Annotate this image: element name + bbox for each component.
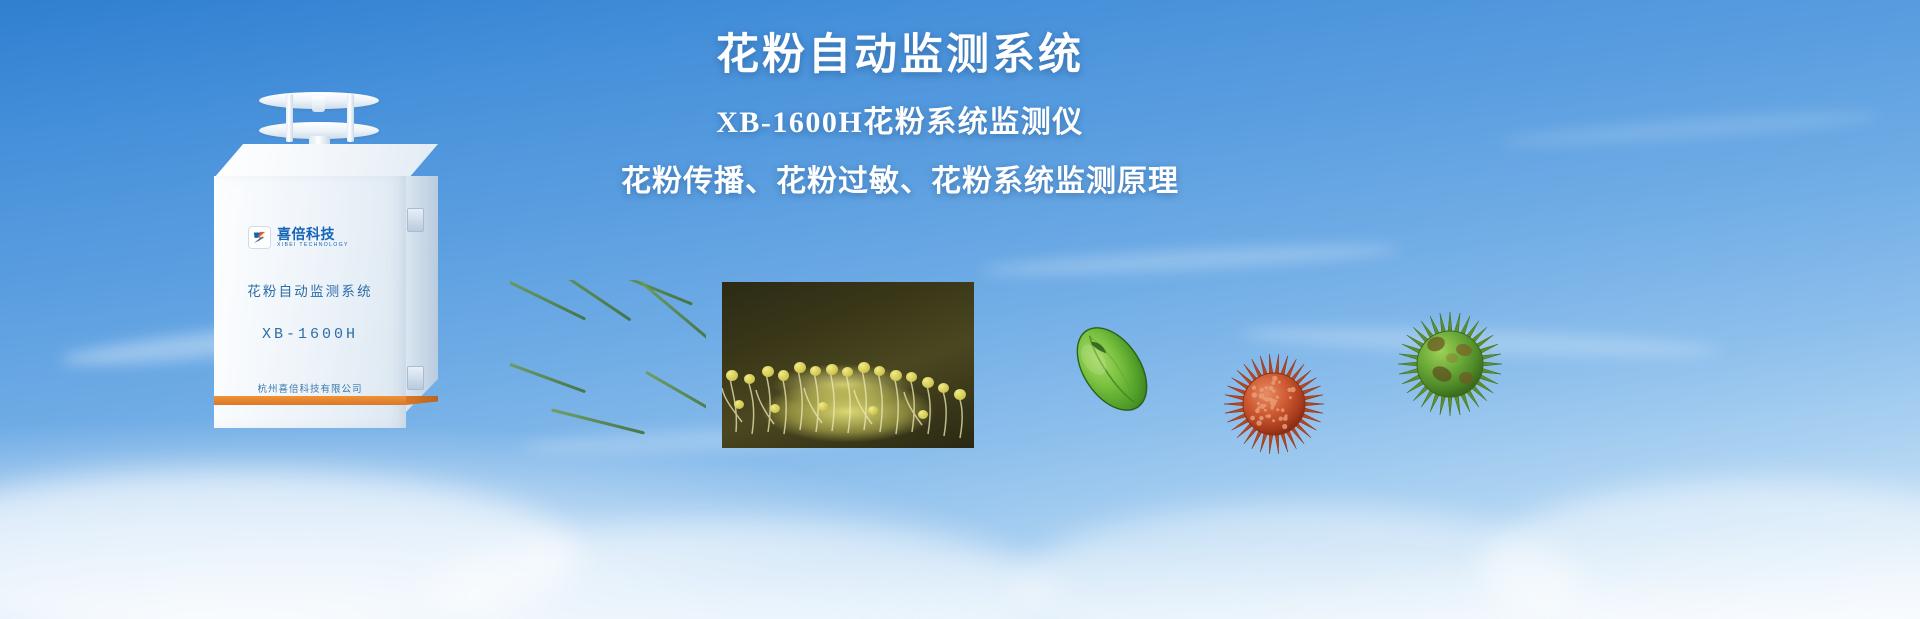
device-brand-logo: 喜倍科技 XIBEI TECHNOLOGY: [248, 226, 349, 249]
anther-dot: [762, 366, 774, 377]
brand-text: 喜倍科技 XIBEI TECHNOLOGY: [277, 227, 349, 248]
cedar-pollen-cones-photo: [510, 280, 706, 448]
cabinet-front-face: 喜倍科技 XIBEI TECHNOLOGY 花粉自动监测系统 XB-1600H …: [214, 176, 406, 428]
pollen-monitor-device: 喜倍科技 XIBEI TECHNOLOGY 花粉自动监测系统 XB-1600H …: [196, 78, 456, 428]
anther-dot: [842, 367, 853, 377]
anther-dot: [906, 372, 917, 382]
product-model-subtitle: XB-1600H花粉系统监测仪: [560, 108, 1240, 138]
device-panel-model: XB-1600H: [214, 326, 406, 343]
device-company-cn: 杭州喜倍科技有限公司: [214, 381, 406, 395]
anther-dot: [726, 370, 738, 381]
sensor-post: [347, 94, 354, 142]
sensor-post: [286, 94, 293, 142]
anther-dot: [826, 364, 838, 375]
device-accent-bar: [214, 396, 406, 405]
anther-dot: [918, 410, 928, 419]
anther-dot: [770, 404, 780, 413]
anther-dot: [818, 402, 828, 411]
catkin-stamens: [722, 282, 974, 448]
anther-dot: [810, 366, 821, 376]
green-spiky-pollen-grain: [1396, 310, 1504, 418]
green-oval-pollen-grain: [1058, 315, 1166, 423]
anther-dot: [890, 370, 902, 381]
banner-stage: 喜倍科技 XIBEI TECHNOLOGY 花粉自动监测系统 XB-1600H …: [0, 0, 1920, 619]
sensor-inlet-nub: [312, 96, 325, 112]
anther-dot: [938, 383, 949, 393]
anther-dot: [858, 362, 870, 373]
anther-dot: [874, 366, 885, 376]
brand-name-cn: 喜倍科技: [277, 227, 349, 241]
anther-dot: [744, 374, 755, 384]
cabinet-top-face: [214, 144, 438, 178]
anther-dot: [778, 370, 789, 381]
anther-dot: [794, 362, 806, 373]
device-accent-bar-side: [406, 396, 438, 405]
device-panel-title: 花粉自动监测系统: [214, 280, 406, 300]
anther-dot: [734, 400, 744, 409]
feature-tagline: 花粉传播、花粉过敏、花粉系统监测原理: [560, 167, 1240, 197]
brand-name-en: XIBEI TECHNOLOGY: [277, 243, 349, 248]
cabinet-latch-lower[interactable]: [407, 366, 424, 390]
xibei-logo-icon: [248, 226, 271, 249]
red-spiky-pollen-grain: [1222, 352, 1326, 456]
cabinet-latch-upper[interactable]: [407, 208, 424, 232]
yellow-catkin-photo: [722, 282, 974, 448]
anther-dot: [954, 389, 966, 400]
anther-dot: [922, 377, 934, 388]
headline-block: 花粉自动监测系统 XB-1600H花粉系统监测仪 花粉传播、花粉过敏、花粉系统监…: [560, 34, 1240, 197]
anther-dot: [868, 406, 878, 415]
page-title: 花粉自动监测系统: [560, 34, 1240, 77]
